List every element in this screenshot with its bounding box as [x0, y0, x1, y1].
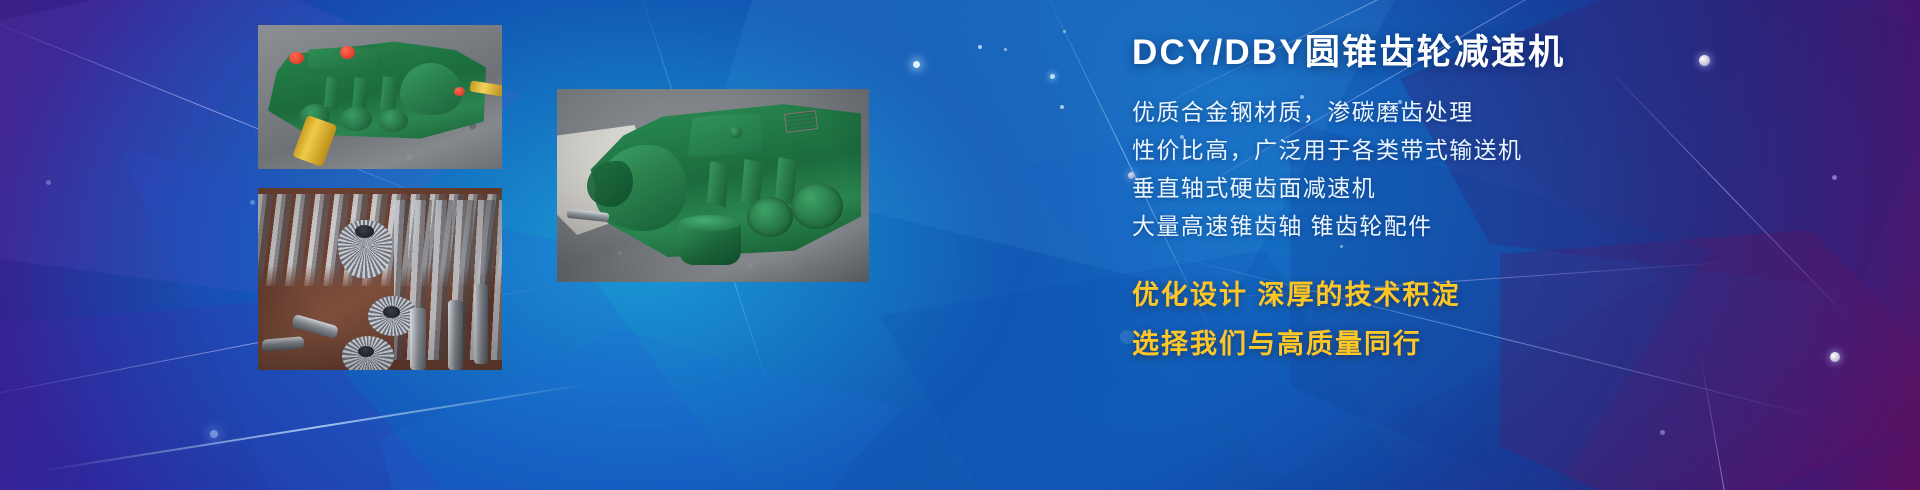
photo-gearbox-top-content: [258, 25, 502, 169]
feature-item: 优质合金钢材质，渗碳磨齿处理: [1132, 93, 1892, 131]
photo-gearbox-main-content: [557, 89, 869, 282]
promo-banner: DCY/DBY圆锥齿轮减速机 优质合金钢材质，渗碳磨齿处理 性价比高，广泛用于各…: [0, 0, 1920, 490]
bg-particle: [978, 45, 982, 49]
bg-particle: [1060, 105, 1064, 109]
feature-list: 优质合金钢材质，渗碳磨齿处理 性价比高，广泛用于各类带式输送机 垂直轴式硬齿面减…: [1132, 93, 1892, 245]
red-oil-plug: [454, 87, 465, 96]
photo-gear-parts-content: [258, 188, 502, 370]
bg-particle: [1004, 48, 1007, 51]
red-oil-plug: [289, 52, 304, 64]
bg-particle: [210, 430, 218, 438]
bg-streak: [1699, 350, 1752, 490]
bg-particle: [250, 200, 255, 205]
red-oil-plug: [340, 46, 355, 59]
photo-gear-parts[interactable]: [258, 188, 502, 370]
gearbox-flange: [378, 109, 408, 132]
highlight-list: 优化设计 深厚的技术积淀 选择我们与高质量同行: [1132, 271, 1892, 369]
feature-item: 大量高速锥齿轴 锥齿轮配件: [1132, 207, 1892, 245]
gearbox-flange: [340, 107, 372, 131]
feature-item: 性价比高，广泛用于各类带式输送机: [1132, 131, 1892, 169]
photo-gearbox-top[interactable]: [258, 25, 502, 169]
photo-vignette: [557, 89, 869, 282]
bg-particle: [46, 180, 51, 185]
bg-particle: [1050, 74, 1055, 79]
photo-vignette: [258, 188, 502, 370]
highlight-item: 选择我们与高质量同行: [1132, 320, 1892, 369]
page-title: DCY/DBY圆锥齿轮减速机: [1132, 34, 1892, 73]
copy-block: DCY/DBY圆锥齿轮减速机 优质合金钢材质，渗碳磨齿处理 性价比高，广泛用于各…: [1132, 34, 1892, 369]
bg-streak: [40, 382, 593, 471]
highlight-item: 优化设计 深厚的技术积淀: [1132, 271, 1892, 320]
bg-particle: [1063, 30, 1066, 33]
bg-particle: [913, 61, 920, 68]
feature-item: 垂直轴式硬齿面减速机: [1132, 169, 1892, 207]
bg-particle: [1660, 430, 1665, 435]
photo-gearbox-main[interactable]: [557, 89, 869, 282]
